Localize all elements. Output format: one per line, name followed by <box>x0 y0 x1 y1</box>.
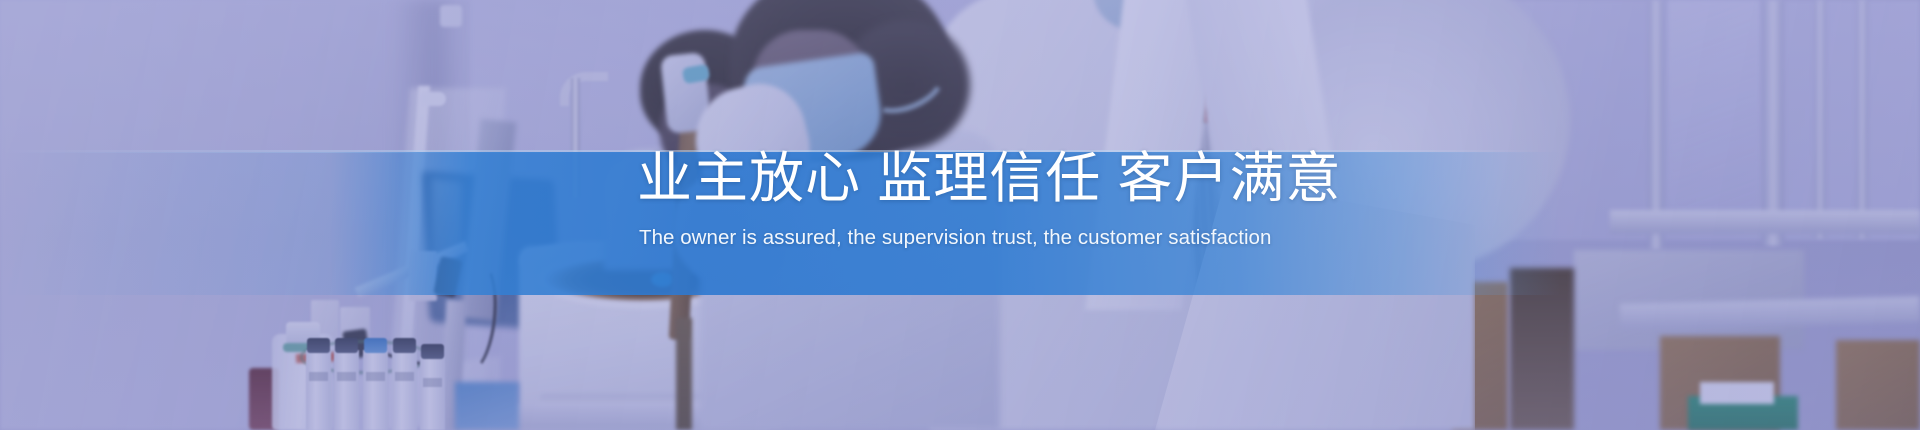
banner-text-block: 业主放心 监理信任 客户满意 The owner is assured, the… <box>0 152 1920 295</box>
banner-headline: 业主放心 监理信任 客户满意 <box>637 145 1342 212</box>
hero-banner: 业主放心 监理信任 客户满意 The owner is assured, the… <box>0 0 1920 430</box>
banner-subheadline: The owner is assured, the supervision tr… <box>639 225 1271 252</box>
